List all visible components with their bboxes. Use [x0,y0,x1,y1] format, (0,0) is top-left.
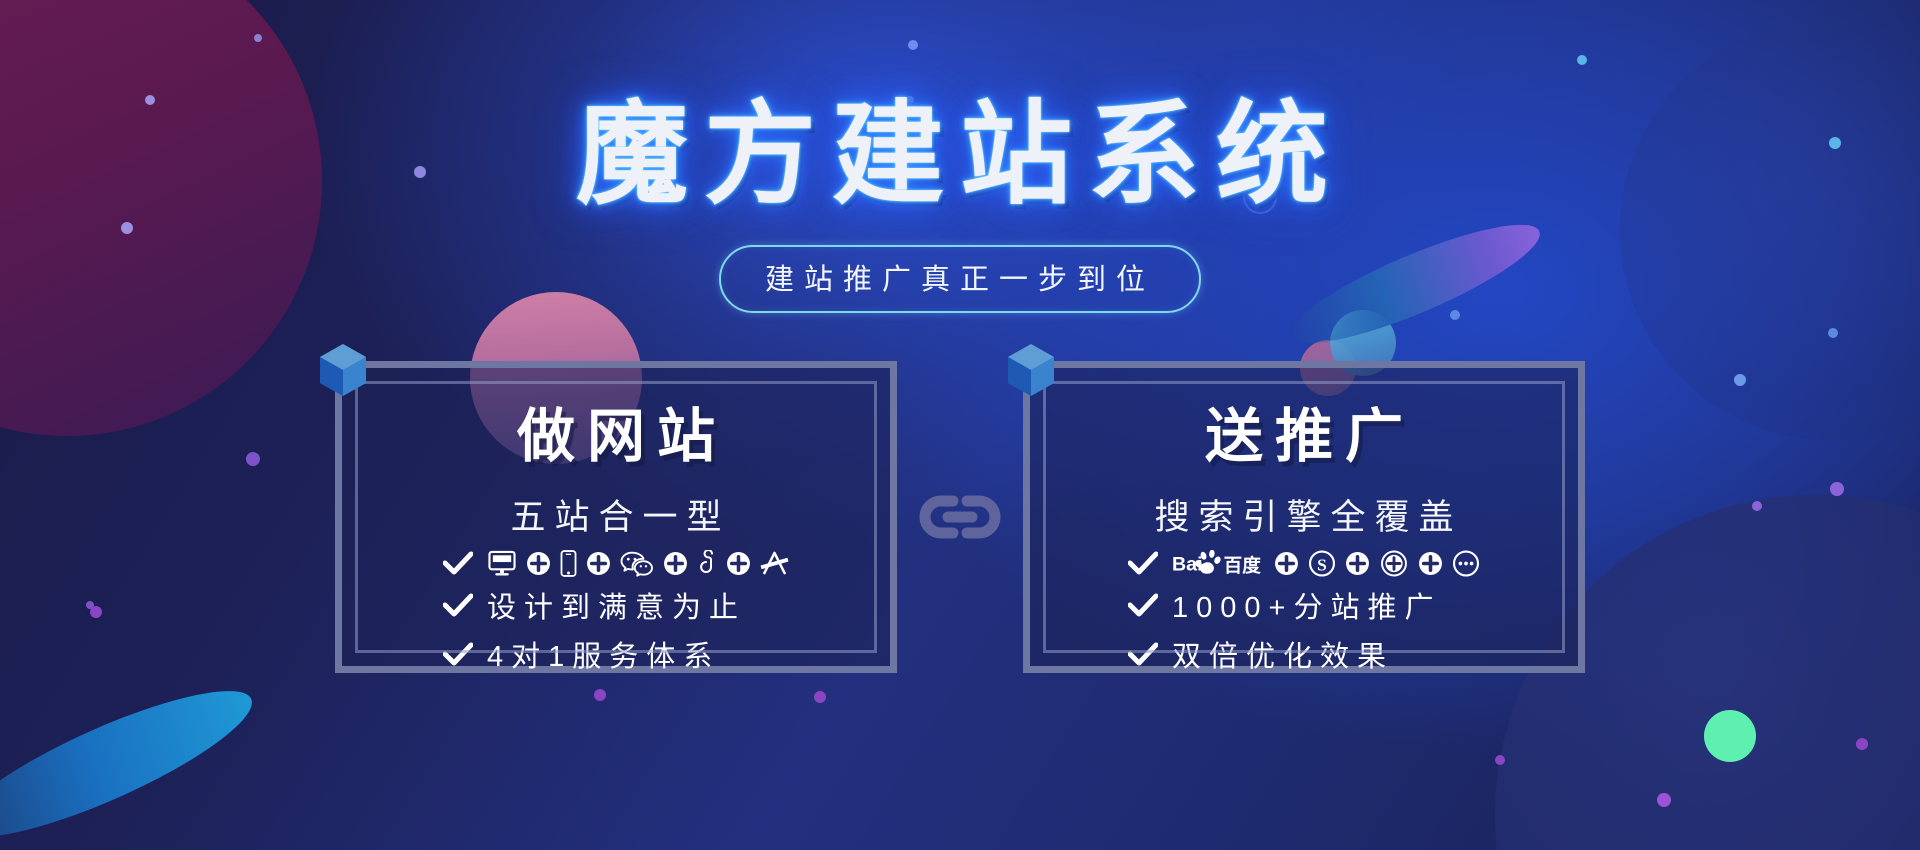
check-icon [1128,642,1158,666]
plus-icon [1418,551,1443,576]
panel-subtitle: 五站合一型 [501,489,730,540]
check-icon [443,593,473,617]
check-icon [443,642,473,666]
qq-icon [697,550,717,577]
mobile-phone-icon [560,550,577,577]
banner-headline: 魔方建站系统 [576,96,1344,215]
panel-free-promotion[interactable]: 送推广 搜索引擎全覆盖 Bai [1023,361,1585,673]
feature-row-text: 双倍优化效果 [1128,633,1394,675]
plus-icon [726,551,751,576]
svg-text:百度: 百度 [1224,554,1262,575]
plus-icon [1345,551,1370,576]
feature-label: 4对1服务体系 [487,633,720,675]
feature-row-text: 4对1服务体系 [443,633,720,675]
plus-icon [586,551,611,576]
wechat-icon [620,550,654,577]
more-dots-icon [1452,550,1480,577]
desktop-monitor-icon [487,550,517,577]
check-icon [443,551,473,575]
feature-row-brands: Bai 百度 [1128,550,1480,577]
feature-row-text: 设计到满意为止 [443,584,746,626]
banner-content: 魔方建站系统 建站推广真正一步到位 做网站 五站合一型 [0,0,1920,850]
feature-row-text: 1000+分站推广 [1128,584,1441,626]
panel-build-website[interactable]: 做网站 五站合一型 [335,361,897,673]
feature-label: 1000+分站推广 [1172,584,1441,626]
cube-icon [316,342,370,402]
promo-banner: 魔方建站系统 建站推广真正一步到位 做网站 五站合一型 [0,0,1920,850]
panel-title: 做网站 [505,389,727,473]
panel-subtitle: 搜索引擎全覆盖 [1145,489,1462,540]
sogou-icon: S [1308,550,1336,577]
cube-icon [1004,342,1058,402]
feature-list: 设计到满意为止 4对1服务体系 [443,550,789,675]
panel-title: 送推广 [1193,389,1415,473]
feature-row-brands [443,550,789,577]
360-search-icon [1379,550,1409,577]
feature-panels: 做网站 五站合一型 [335,361,1585,673]
banner-subtitle-pill: 建站推广真正一步到位 [719,245,1201,313]
plus-icon [526,551,551,576]
brand-icon-row: Bai 百度 [1172,550,1480,577]
check-icon [1128,593,1158,617]
plus-icon [663,551,688,576]
baidu-logo-icon: Bai 百度 [1172,550,1265,577]
brand-icon-row [487,550,789,577]
feature-label: 设计到满意为止 [487,584,746,626]
svg-text:S: S [1317,555,1327,574]
chain-link-icon [915,488,1005,546]
feature-list: Bai 百度 [1128,550,1480,675]
check-icon [1128,551,1158,575]
app-store-icon [760,550,789,577]
feature-label: 双倍优化效果 [1172,633,1394,675]
plus-icon [1274,551,1299,576]
